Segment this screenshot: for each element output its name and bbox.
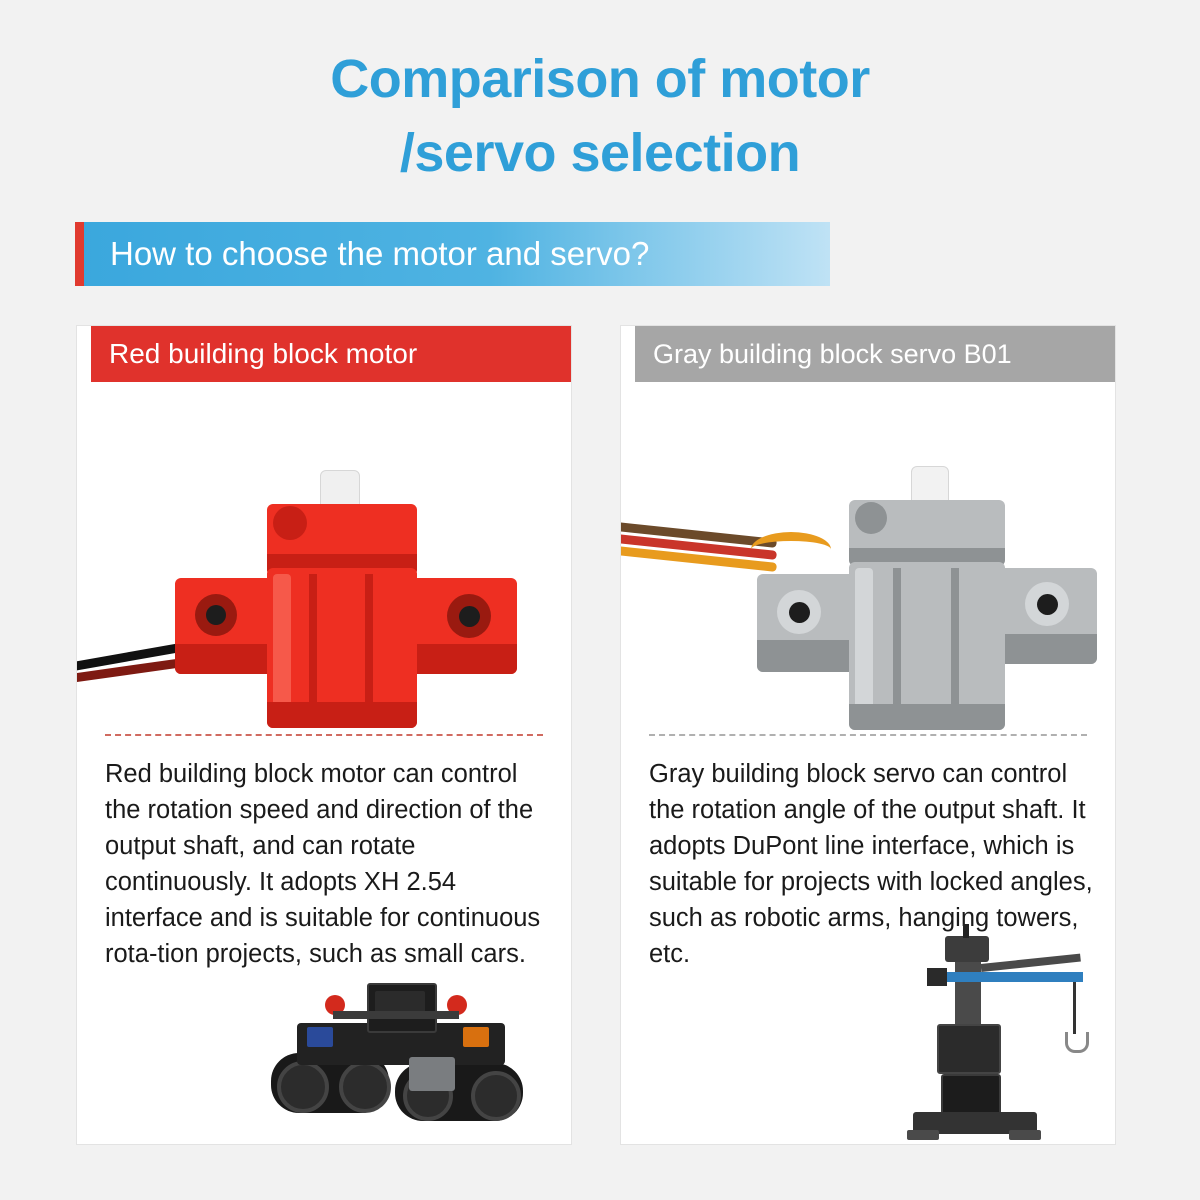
header-white-accent-bar [621, 326, 635, 382]
crane-body-module [937, 1024, 1001, 1074]
car-module-gray [409, 1057, 455, 1091]
hanging-tower-image [897, 924, 1097, 1142]
car-module-orange [463, 1027, 489, 1047]
servo-top-stud [855, 502, 887, 534]
poster-page: Comparison of motor /servo selection How… [0, 0, 1200, 1200]
motor-body-base [267, 702, 417, 728]
crane-top-motor [945, 936, 989, 962]
subtitle-red-bar [75, 222, 84, 286]
servo-body-highlight [855, 568, 873, 724]
motor-right-arm-shade [407, 644, 517, 674]
crane-hook-line [1073, 982, 1076, 1034]
servo-right-arm-hole [1037, 594, 1058, 615]
car-wheel-left-rear [339, 1061, 391, 1113]
crane-top-antenna [963, 924, 969, 938]
panel-red-motor-header: Red building block motor [77, 326, 571, 382]
crane-control-board [941, 1074, 1001, 1116]
gray-panel-divider [649, 734, 1087, 736]
panel-red-motor-title: Red building block motor [109, 338, 417, 370]
red-motor-illustration [77, 382, 571, 734]
motor-left-arm-hole [206, 605, 226, 625]
motor-right-arm-hole [459, 606, 480, 627]
crane-base-foot-right [1009, 1130, 1041, 1140]
servo-left-arm-hole [789, 602, 810, 623]
servo-body-groove-2 [951, 568, 959, 724]
motor-top-stud [273, 506, 307, 540]
page-title-line-1: Comparison of motor [0, 42, 1200, 116]
subtitle-text: How to choose the motor and servo? [110, 235, 649, 273]
servo-wire-bundle-curve [751, 532, 831, 567]
car-arm-bar [333, 1011, 459, 1019]
red-motor-image [77, 382, 571, 734]
crane-base-foot-left [907, 1130, 939, 1140]
car-wheel-left-front [277, 1061, 329, 1113]
gray-servo-image [621, 382, 1115, 734]
subtitle-banner: How to choose the motor and servo? [75, 222, 830, 286]
page-title-line-2: /servo selection [0, 116, 1200, 190]
panel-red-motor: Red building block motor [76, 325, 572, 1145]
servo-body-base [849, 704, 1005, 730]
panel-gray-servo-header: Gray building block servo B01 [621, 326, 1115, 382]
car-wheel-right-rear [471, 1071, 521, 1121]
crane-jib-support [981, 954, 1081, 972]
crane-jib-arm [933, 972, 1083, 982]
red-panel-divider [105, 734, 543, 736]
crane-hook [1065, 1032, 1089, 1053]
panel-gray-servo: Gray building block servo B01 [620, 325, 1116, 1145]
car-module-blue [307, 1027, 333, 1047]
smart-car-image [263, 961, 553, 1141]
page-title: Comparison of motor /servo selection [0, 42, 1200, 190]
servo-body-groove-1 [893, 568, 901, 724]
panel-gray-servo-title: Gray building block servo B01 [653, 339, 1012, 370]
red-motor-description: Red building block motor can control the… [105, 756, 549, 972]
crane-counterweight [927, 968, 947, 986]
gray-servo-illustration [621, 382, 1115, 734]
header-white-accent-bar [77, 326, 91, 382]
